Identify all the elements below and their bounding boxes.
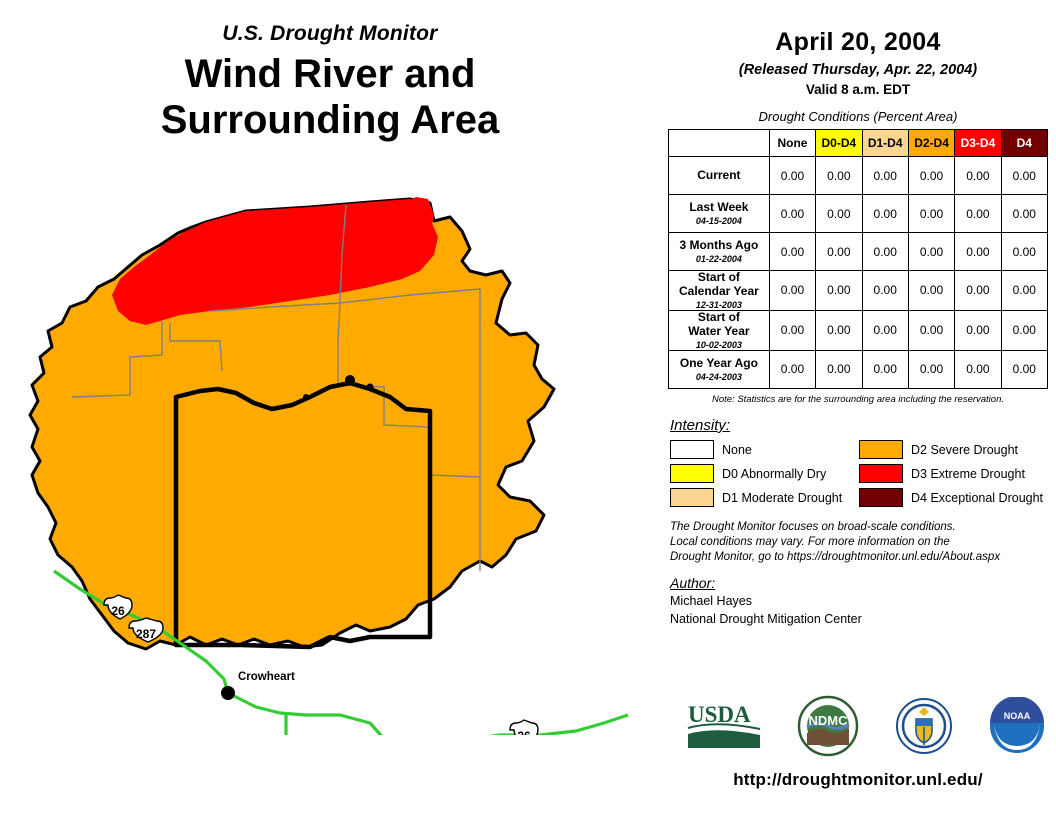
table-cell-value: 0.00 bbox=[769, 157, 815, 195]
table-row-label: Current bbox=[669, 157, 770, 195]
table-cell-value: 0.00 bbox=[769, 350, 815, 388]
legend-swatch bbox=[859, 440, 903, 459]
table-cell-value: 0.00 bbox=[769, 310, 815, 350]
table-cell-value: 0.00 bbox=[1001, 157, 1047, 195]
table-cell-value: 0.00 bbox=[908, 271, 954, 311]
noaa-logo: NOAA bbox=[988, 697, 1046, 755]
table-cell-value: 0.00 bbox=[908, 157, 954, 195]
map-title-block: U.S. Drought Monitor Wind River and Surr… bbox=[0, 22, 660, 143]
author-name: Michael Hayes bbox=[670, 593, 1056, 610]
legend-item: D2 Severe Drought bbox=[859, 438, 1048, 462]
table-cell-value: 0.00 bbox=[1001, 271, 1047, 311]
agency-logos: USDA NDMC NOAA bbox=[660, 690, 1056, 762]
table-row: One Year Ago04-24-20030.000.000.000.000.… bbox=[669, 350, 1048, 388]
usda-logo: USDA bbox=[686, 700, 762, 752]
legend-row: NoneD2 Severe Drought bbox=[670, 438, 1048, 462]
table-cell-value: 0.00 bbox=[955, 271, 1001, 311]
site-url[interactable]: http://droughtmonitor.unl.edu/ bbox=[660, 770, 1056, 790]
table-note: Note: Statistics are for the surrounding… bbox=[660, 394, 1056, 405]
table-cell-value: 0.00 bbox=[816, 233, 862, 271]
legend-item: D3 Extreme Drought bbox=[859, 462, 1048, 486]
page-title-line2: Surrounding Area bbox=[0, 98, 660, 144]
table-body: Current0.000.000.000.000.000.00Last Week… bbox=[669, 157, 1048, 389]
table-cell-value: 0.00 bbox=[862, 233, 908, 271]
legend-label: D4 Exceptional Drought bbox=[911, 491, 1043, 505]
table-header-row: NoneD0-D4D1-D4D2-D4D3-D4D4 bbox=[669, 130, 1048, 157]
table-cell-value: 0.00 bbox=[1001, 310, 1047, 350]
legend-item: D4 Exceptional Drought bbox=[859, 486, 1048, 510]
table-cell-value: 0.00 bbox=[955, 233, 1001, 271]
disclaimer-line: Drought Monitor, go to https://droughtmo… bbox=[670, 550, 1056, 565]
table-cell-value: 0.00 bbox=[816, 195, 862, 233]
table-cell-value: 0.00 bbox=[908, 310, 954, 350]
table-cell-value: 0.00 bbox=[862, 271, 908, 311]
legend-label: D0 Abnormally Dry bbox=[722, 467, 826, 481]
table-cell-value: 0.00 bbox=[816, 310, 862, 350]
release-valid-time: Valid 8 a.m. EDT bbox=[660, 82, 1056, 97]
disclaimer-line: The Drought Monitor focuses on broad-sca… bbox=[670, 520, 1056, 535]
table-row-label: Last Week04-15-2004 bbox=[669, 195, 770, 233]
table-cell-value: 0.00 bbox=[816, 157, 862, 195]
table-caption: Drought Conditions (Percent Area) bbox=[660, 109, 1056, 124]
city-label-crowheart: Crowheart bbox=[238, 671, 295, 683]
release-subtitle: (Released Thursday, Apr. 22, 2004) bbox=[660, 62, 1056, 78]
author-org: National Drought Mitigation Center bbox=[670, 611, 1056, 628]
legend-label: D2 Severe Drought bbox=[911, 443, 1018, 457]
table-col-header-d1-d4: D1-D4 bbox=[862, 130, 908, 157]
table-row-label: Start ofWater Year10-02-2003 bbox=[669, 310, 770, 350]
table-cell-value: 0.00 bbox=[908, 233, 954, 271]
legend-swatch bbox=[859, 488, 903, 507]
table-cell-value: 0.00 bbox=[862, 195, 908, 233]
legend-swatch bbox=[670, 464, 714, 483]
table-cell-value: 0.00 bbox=[1001, 233, 1047, 271]
table-cell-value: 0.00 bbox=[862, 310, 908, 350]
city-dot-crowheart bbox=[221, 686, 235, 700]
table-cell-value: 0.00 bbox=[1001, 350, 1047, 388]
table-cell-value: 0.00 bbox=[769, 195, 815, 233]
page-title: Wind River and Surrounding Area bbox=[0, 52, 660, 143]
drought-conditions-table: NoneD0-D4D1-D4D2-D4D3-D4D4 Current0.000.… bbox=[668, 129, 1048, 389]
table-cell-value: 0.00 bbox=[862, 157, 908, 195]
legend-swatch bbox=[670, 440, 714, 459]
legend-item: None bbox=[670, 438, 859, 462]
table-cell-value: 0.00 bbox=[769, 271, 815, 311]
table-row: Start ofCalendar Year12-31-20030.000.000… bbox=[669, 271, 1048, 311]
city-markers bbox=[221, 686, 393, 735]
disclaimer-line: Local conditions may vary. For more info… bbox=[670, 535, 1056, 550]
table-cell-value: 0.00 bbox=[769, 233, 815, 271]
release-header: April 20, 2004 (Released Thursday, Apr. … bbox=[660, 0, 1056, 97]
table-cell-value: 0.00 bbox=[955, 310, 1001, 350]
info-panel: April 20, 2004 (Released Thursday, Apr. … bbox=[660, 0, 1056, 816]
table-col-header-d0-d4: D0-D4 bbox=[816, 130, 862, 157]
city-labels: CrowheartFort WashakieEtheteRivertonArap… bbox=[202, 671, 443, 735]
disclaimer-text: The Drought Monitor focuses on broad-sca… bbox=[670, 520, 1056, 566]
table-row-label: Start ofCalendar Year12-31-2003 bbox=[669, 271, 770, 311]
table-row: Last Week04-15-20040.000.000.000.000.000… bbox=[669, 195, 1048, 233]
table-col-header-d4: D4 bbox=[1001, 130, 1047, 157]
legend-swatch bbox=[859, 464, 903, 483]
table-col-header-d3-d4: D3-D4 bbox=[955, 130, 1001, 157]
legend-row: D1 Moderate DroughtD4 Exceptional Drough… bbox=[670, 486, 1048, 510]
table-cell-value: 0.00 bbox=[1001, 195, 1047, 233]
svg-text:NDMC: NDMC bbox=[809, 713, 849, 728]
table-row: 3 Months Ago01-22-20040.000.000.000.000.… bbox=[669, 233, 1048, 271]
svg-text:287: 287 bbox=[136, 627, 156, 641]
author-block: Michael Hayes National Drought Mitigatio… bbox=[670, 593, 1056, 628]
legend-item: D1 Moderate Drought bbox=[670, 486, 859, 510]
page-title-line1: Wind River and bbox=[0, 52, 660, 98]
commerce-seal-logo bbox=[895, 697, 953, 755]
table-col-header-d2-d4: D2-D4 bbox=[908, 130, 954, 157]
page-eyebrow-title: U.S. Drought Monitor bbox=[0, 22, 660, 46]
table-cell-value: 0.00 bbox=[816, 271, 862, 311]
drought-map[interactable]: CrowheartFort WashakieEtheteRivertonArap… bbox=[10, 175, 660, 735]
table-cell-value: 0.00 bbox=[908, 350, 954, 388]
legend-label: D3 Extreme Drought bbox=[911, 467, 1025, 481]
table-col-header-none: None bbox=[769, 130, 815, 157]
legend-heading: Intensity: bbox=[670, 417, 1056, 434]
legend-item: D0 Abnormally Dry bbox=[670, 462, 859, 486]
table-row: Current0.000.000.000.000.000.00 bbox=[669, 157, 1048, 195]
author-heading: Author: bbox=[670, 575, 1056, 591]
table-cell-value: 0.00 bbox=[955, 157, 1001, 195]
highway-shield-26: 26 bbox=[510, 720, 538, 735]
table-cell-value: 0.00 bbox=[816, 350, 862, 388]
legend-label: None bbox=[722, 443, 752, 457]
table-row-label: 3 Months Ago01-22-2004 bbox=[669, 233, 770, 271]
table-row: Start ofWater Year10-02-20030.000.000.00… bbox=[669, 310, 1048, 350]
ndmc-logo: NDMC bbox=[797, 695, 859, 757]
table-cell-value: 0.00 bbox=[862, 350, 908, 388]
legend-row: D0 Abnormally DryD3 Extreme Drought bbox=[670, 462, 1048, 486]
table-header-corner bbox=[669, 130, 770, 157]
table-cell-value: 0.00 bbox=[955, 350, 1001, 388]
release-date: April 20, 2004 bbox=[660, 28, 1056, 57]
table-cell-value: 0.00 bbox=[955, 195, 1001, 233]
svg-text:NOAA: NOAA bbox=[1004, 711, 1031, 721]
svg-text:26: 26 bbox=[111, 604, 125, 618]
table-cell-value: 0.00 bbox=[908, 195, 954, 233]
legend-label: D1 Moderate Drought bbox=[722, 491, 842, 505]
intensity-legend: NoneD2 Severe DroughtD0 Abnormally DryD3… bbox=[670, 438, 1048, 510]
legend-swatch bbox=[670, 488, 714, 507]
svg-text:26: 26 bbox=[517, 729, 531, 735]
table-row-label: One Year Ago04-24-2003 bbox=[669, 350, 770, 388]
